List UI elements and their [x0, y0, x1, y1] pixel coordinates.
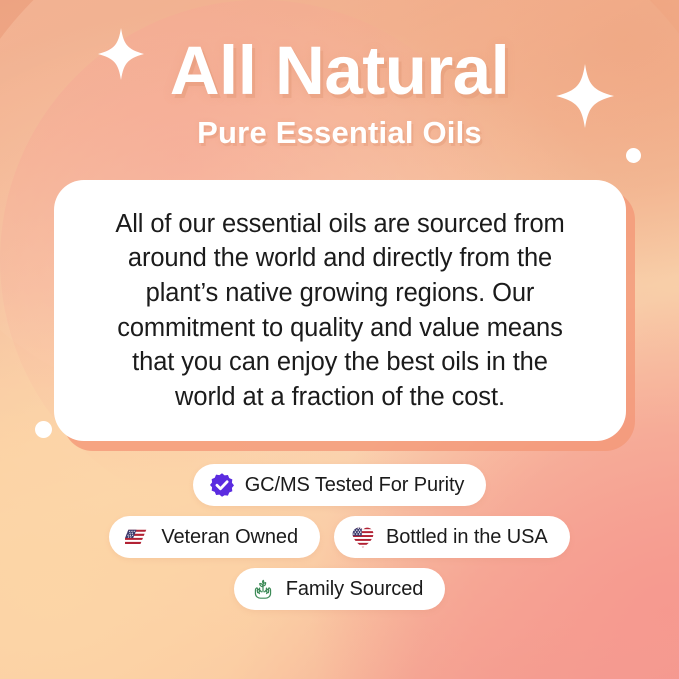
- heart-us-flag-icon: [350, 524, 376, 550]
- trust-badge-group: GC/MS Tested For Purity: [0, 464, 679, 610]
- badge-label: Veteran Owned: [161, 527, 298, 547]
- badge-bottled-in-usa[interactable]: Bottled in the USA: [334, 516, 570, 558]
- slanted-us-flag-icon: [125, 524, 151, 550]
- badge-row-3: Family Sourced: [234, 568, 446, 610]
- badge-family-sourced[interactable]: Family Sourced: [234, 568, 446, 610]
- poster-heading-group: All Natural Pure Essential Oils: [0, 34, 679, 151]
- badge-row-1: GC/MS Tested For Purity: [193, 464, 487, 506]
- description-card: All of our essential oils are sourced fr…: [54, 180, 626, 441]
- badge-label: Family Sourced: [286, 579, 424, 599]
- badge-row-2: Veteran Owned: [109, 516, 569, 558]
- page-subtitle: Pure Essential Oils: [0, 115, 679, 151]
- badge-gcms-tested[interactable]: GC/MS Tested For Purity: [193, 464, 487, 506]
- badge-label: Bottled in the USA: [386, 527, 548, 547]
- description-text: All of our essential oils are sourced fr…: [115, 207, 564, 414]
- decorative-dot: [35, 421, 52, 438]
- poster-canvas: All Natural Pure Essential Oils All of o…: [0, 0, 679, 679]
- badge-label: GC/MS Tested For Purity: [245, 475, 465, 495]
- badge-veteran-owned[interactable]: Veteran Owned: [109, 516, 320, 558]
- verified-check-icon: [209, 472, 235, 498]
- page-title: All Natural: [0, 34, 679, 109]
- hands-holding-sprout-icon: [250, 576, 276, 602]
